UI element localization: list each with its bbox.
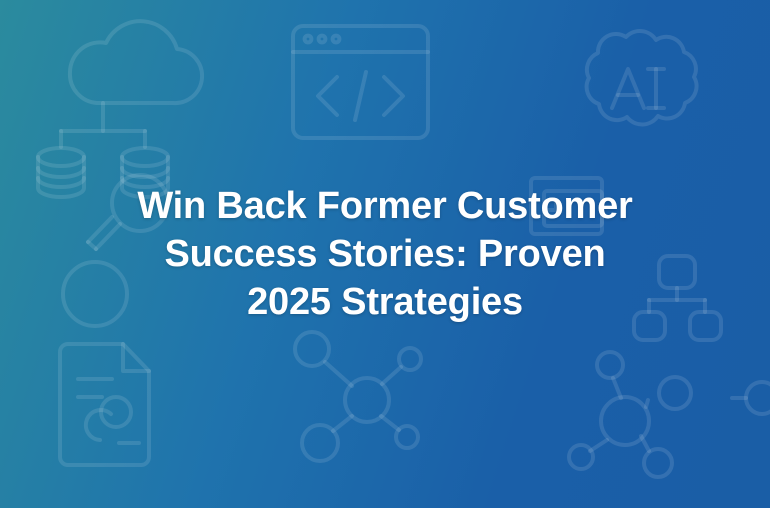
title-container: Win Back Former Customer Success Stories… [0,0,770,508]
page-title: Win Back Former Customer Success Stories… [65,182,705,327]
promo-banner: Win Back Former Customer Success Stories… [0,0,770,508]
